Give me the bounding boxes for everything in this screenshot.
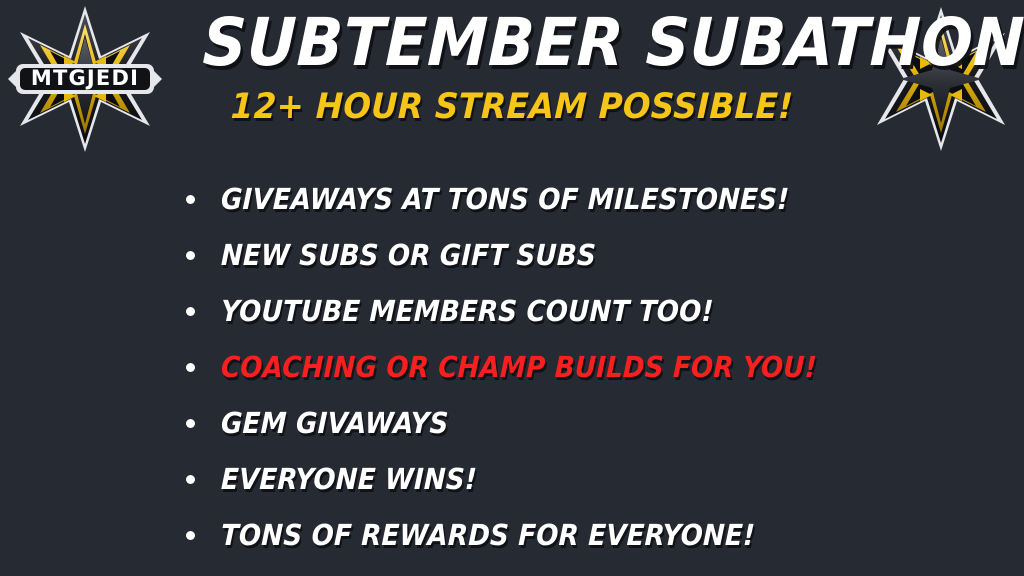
page-subtitle: 12+ HOUR STREAM POSSIBLE! (199, 90, 825, 125)
list-item-label: TONS OF REWARDS FOR EVERYONE! (221, 521, 756, 550)
list-item: NEW SUBS OR GIFT SUBS (186, 227, 926, 283)
subathon-announcement-slide: MTGJEDI (0, 0, 1024, 576)
feature-bullet-list: GIVEAWAYS AT TONS OF MILESTONES! NEW SUB… (186, 171, 926, 563)
mtgjedi-wordmark-banner: MTGJEDI (8, 64, 162, 94)
bullet-dot-icon (186, 531, 195, 540)
bullet-dot-icon (186, 419, 195, 428)
list-item: TONS OF REWARDS FOR EVERYONE! (186, 507, 926, 563)
mtgjedi-star-logo: MTGJEDI (2, 4, 168, 154)
list-item: EVERYONE WINS! (186, 451, 926, 507)
page-title: SUBTEMBER SUBATHON! (202, 10, 822, 76)
list-item-label: NEW SUBS OR GIFT SUBS (221, 241, 597, 270)
bullet-dot-icon (186, 475, 195, 484)
mtgjedi-wordmark-text: MTGJEDI (31, 66, 139, 90)
list-item: COACHING OR CHAMP BUILDS FOR YOU! (186, 339, 926, 395)
bullet-dot-icon (186, 363, 195, 372)
list-item: YOUTUBE MEMBERS COUNT TOO! (186, 283, 926, 339)
list-item-label: GEM GIVAWAYS (221, 409, 449, 438)
list-item-label: EVERYONE WINS! (221, 465, 478, 494)
list-item-label: YOUTUBE MEMBERS COUNT TOO! (221, 297, 715, 326)
list-item-label: GIVEAWAYS AT TONS OF MILESTONES! (221, 185, 790, 214)
list-item: GEM GIVAWAYS (186, 395, 926, 451)
headline-block: SUBTEMBER SUBATHON! 12+ HOUR STREAM POSS… (176, 10, 848, 125)
bullet-dot-icon (186, 251, 195, 260)
bullet-dot-icon (186, 307, 195, 316)
list-item: GIVEAWAYS AT TONS OF MILESTONES! (186, 171, 926, 227)
bullet-dot-icon (186, 195, 195, 204)
list-item-label: COACHING OR CHAMP BUILDS FOR YOU! (221, 353, 818, 382)
